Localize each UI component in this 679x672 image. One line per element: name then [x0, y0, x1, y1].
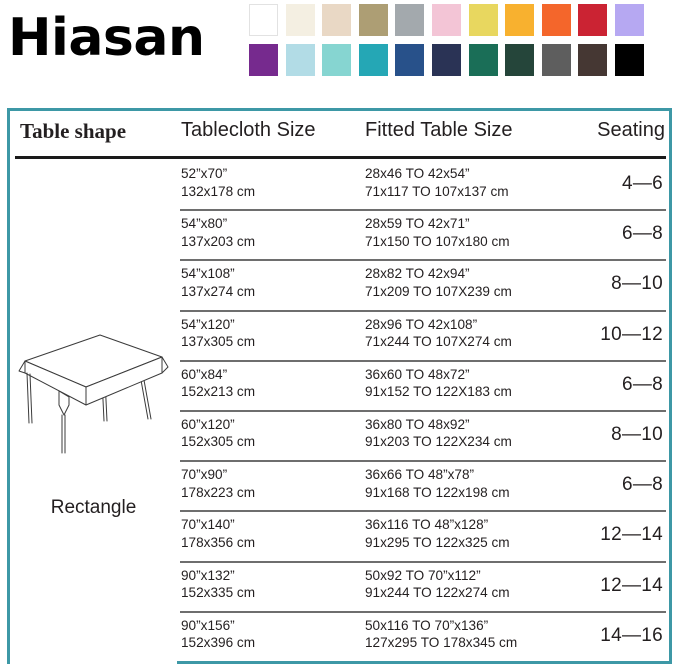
color-swatch-ivory[interactable]: [286, 4, 315, 36]
tablecloth-size-cm: 152x396 cm: [181, 634, 255, 652]
tablecloth-size-cm: 132x178 cm: [181, 183, 255, 201]
color-swatch-khaki[interactable]: [359, 4, 388, 36]
tablecloth-size-cm: 178x223 cm: [181, 484, 255, 502]
fitted-size-inches: 28x82 TO 42x94”: [365, 265, 512, 283]
table-row: 54”x120”137x305 cm28x96 TO 42x108”71x244…: [177, 310, 669, 360]
table-row: 54”x108”137x274 cm28x82 TO 42x94”71x209 …: [177, 259, 669, 309]
fitted-size-cm: 71x117 TO 107x137 cm: [365, 183, 509, 201]
cell-seating: 12—14: [600, 524, 663, 546]
table-row: 90”x132”152x335 cm50x92 TO 70”x112”91x24…: [177, 561, 669, 611]
tablecloth-size-inches: 54”x80”: [181, 215, 255, 233]
cell-seating: 6—8: [622, 474, 663, 496]
tablecloth-size-cm: 178x356 cm: [181, 534, 255, 552]
color-swatch-brown[interactable]: [578, 44, 607, 76]
table-header-row: Table shape Tablecloth Size Fitted Table…: [10, 111, 669, 156]
column-header-table-shape: Table shape: [20, 119, 126, 144]
fitted-size-cm: 71x244 TO 107X274 cm: [365, 333, 512, 351]
fitted-size-cm: 91x295 TO 122x325 cm: [365, 534, 510, 552]
fitted-size-cm: 71x150 TO 107x180 cm: [365, 233, 510, 251]
tablecloth-size-inches: 70”x140”: [181, 516, 255, 534]
tablecloth-size-cm: 152x335 cm: [181, 584, 255, 602]
color-swatch-grey[interactable]: [395, 4, 424, 36]
cell-seating: 6—8: [622, 374, 663, 396]
tablecloth-size-cm: 137x274 cm: [181, 283, 255, 301]
color-swatch-hunter-green[interactable]: [505, 44, 534, 76]
tablecloth-size-inches: 90”x132”: [181, 567, 255, 585]
cell-seating: 10—12: [600, 324, 663, 346]
color-swatch-gold[interactable]: [505, 4, 534, 36]
cell-fitted-table-size: 36x66 TO 48”x78”91x168 TO 122x198 cm: [365, 466, 510, 501]
size-rows-container: 52”x70”132x178 cm28x46 TO 42x54”71x117 T…: [177, 159, 669, 661]
cell-seating: 8—10: [611, 273, 663, 295]
column-header-fitted-table-size: Fitted Table Size: [365, 119, 513, 142]
color-swatch-dark-grey[interactable]: [542, 44, 571, 76]
color-swatch-black[interactable]: [615, 44, 644, 76]
tablecloth-size-inches: 70”x90”: [181, 466, 255, 484]
tablecloth-size-inches: 60”x84”: [181, 366, 255, 384]
tablecloth-size-cm: 152x305 cm: [181, 433, 255, 451]
color-swatch-navy[interactable]: [432, 44, 461, 76]
fitted-size-inches: 36x66 TO 48”x78”: [365, 466, 510, 484]
brand-logo: Hiasan: [8, 8, 205, 68]
fitted-size-cm: 91x244 TO 122x274 cm: [365, 584, 510, 602]
color-swatch-white[interactable]: [249, 4, 278, 36]
fitted-size-inches: 36x60 TO 48x72”: [365, 366, 512, 384]
table-row: 54”x80”137x203 cm28x59 TO 42x71”71x150 T…: [177, 209, 669, 259]
rectangle-table-with-tablecloth-icon: [16, 327, 171, 457]
fitted-size-inches: 50x92 TO 70”x112”: [365, 567, 510, 585]
cell-fitted-table-size: 28x82 TO 42x94”71x209 TO 107X239 cm: [365, 265, 512, 300]
cell-tablecloth-size: 90”x156”152x396 cm: [181, 617, 255, 652]
color-swatch-denim-blue[interactable]: [395, 44, 424, 76]
tablecloth-size-chart-panel: Table shape Tablecloth Size Fitted Table…: [7, 108, 672, 664]
tablecloth-size-cm: 152x213 cm: [181, 383, 255, 401]
column-header-tablecloth-size: Tablecloth Size: [181, 119, 316, 142]
cell-tablecloth-size: 70”x140”178x356 cm: [181, 516, 255, 551]
tablecloth-size-inches: 60”x120”: [181, 416, 255, 434]
cell-fitted-table-size: 28x96 TO 42x108”71x244 TO 107X274 cm: [365, 316, 512, 351]
tablecloth-size-inches: 52”x70”: [181, 165, 255, 183]
cell-tablecloth-size: 60”x120”152x305 cm: [181, 416, 255, 451]
cell-fitted-table-size: 50x116 TO 70”x136”127x295 TO 178x345 cm: [365, 617, 517, 652]
cell-fitted-table-size: 28x46 TO 42x54”71x117 TO 107x137 cm: [365, 165, 509, 200]
fitted-size-inches: 36x116 TO 48”x128”: [365, 516, 510, 534]
cell-tablecloth-size: 90”x132”152x335 cm: [181, 567, 255, 602]
color-swatch-teal[interactable]: [359, 44, 388, 76]
cell-seating: 6—8: [622, 223, 663, 245]
tablecloth-size-cm: 137x203 cm: [181, 233, 255, 251]
fitted-size-cm: 71x209 TO 107X239 cm: [365, 283, 512, 301]
fitted-size-inches: 50x116 TO 70”x136”: [365, 617, 517, 635]
cell-seating: 4—6: [622, 173, 663, 195]
table-row: 70”x90”178x223 cm36x66 TO 48”x78”91x168 …: [177, 460, 669, 510]
fitted-size-inches: 36x80 TO 48x92”: [365, 416, 512, 434]
table-shape-label: Rectangle: [10, 497, 177, 519]
tablecloth-size-inches: 90”x156”: [181, 617, 255, 635]
color-swatch-aqua[interactable]: [322, 44, 351, 76]
cell-tablecloth-size: 54”x80”137x203 cm: [181, 215, 255, 250]
color-swatch-grid: [249, 4, 675, 84]
table-row: 60”x84”152x213 cm36x60 TO 48x72”91x152 T…: [177, 360, 669, 410]
cell-fitted-table-size: 28x59 TO 42x71”71x150 TO 107x180 cm: [365, 215, 510, 250]
cell-fitted-table-size: 36x80 TO 48x92”91x203 TO 122X234 cm: [365, 416, 512, 451]
column-header-seating: Seating: [597, 119, 665, 142]
cell-seating: 8—10: [611, 424, 663, 446]
fitted-size-cm: 91x203 TO 122X234 cm: [365, 433, 512, 451]
cell-tablecloth-size: 54”x108”137x274 cm: [181, 265, 255, 300]
fitted-size-inches: 28x46 TO 42x54”: [365, 165, 509, 183]
table-row: 90”x156”152x396 cm50x116 TO 70”x136”127x…: [177, 611, 669, 661]
color-swatch-red[interactable]: [578, 4, 607, 36]
fitted-size-inches: 28x59 TO 42x71”: [365, 215, 510, 233]
fitted-size-cm: 91x152 TO 122X183 cm: [365, 383, 512, 401]
table-row: 60”x120”152x305 cm36x80 TO 48x92”91x203 …: [177, 410, 669, 460]
tablecloth-size-cm: 137x305 cm: [181, 333, 255, 351]
cell-fitted-table-size: 36x116 TO 48”x128”91x295 TO 122x325 cm: [365, 516, 510, 551]
cell-seating: 12—14: [600, 575, 663, 597]
table-row: 52”x70”132x178 cm28x46 TO 42x54”71x117 T…: [177, 159, 669, 209]
cell-tablecloth-size: 54”x120”137x305 cm: [181, 316, 255, 351]
cell-fitted-table-size: 36x60 TO 48x72”91x152 TO 122X183 cm: [365, 366, 512, 401]
color-swatch-beige[interactable]: [322, 4, 351, 36]
cell-tablecloth-size: 52”x70”132x178 cm: [181, 165, 255, 200]
fitted-size-inches: 28x96 TO 42x108”: [365, 316, 512, 334]
table-shape-cell: Rectangle: [10, 159, 177, 664]
color-swatch-orange[interactable]: [542, 4, 571, 36]
table-row: 70”x140”178x356 cm36x116 TO 48”x128”91x2…: [177, 510, 669, 560]
color-swatch-lavender[interactable]: [615, 4, 644, 36]
color-swatch-light-blue[interactable]: [286, 44, 315, 76]
brand-header: Hiasan: [0, 0, 679, 96]
color-swatch-pink[interactable]: [432, 4, 461, 36]
cell-seating: 14—16: [600, 625, 663, 647]
tablecloth-size-inches: 54”x120”: [181, 316, 255, 334]
cell-tablecloth-size: 70”x90”178x223 cm: [181, 466, 255, 501]
color-swatch-emerald[interactable]: [469, 44, 498, 76]
fitted-size-cm: 91x168 TO 122x198 cm: [365, 484, 510, 502]
swatch-row-light: [249, 4, 675, 36]
color-swatch-yellow[interactable]: [469, 4, 498, 36]
color-swatch-purple[interactable]: [249, 44, 278, 76]
tablecloth-size-inches: 54”x108”: [181, 265, 255, 283]
swatch-row-dark: [249, 44, 675, 76]
cell-fitted-table-size: 50x92 TO 70”x112”91x244 TO 122x274 cm: [365, 567, 510, 602]
fitted-size-cm: 127x295 TO 178x345 cm: [365, 634, 517, 652]
cell-tablecloth-size: 60”x84”152x213 cm: [181, 366, 255, 401]
